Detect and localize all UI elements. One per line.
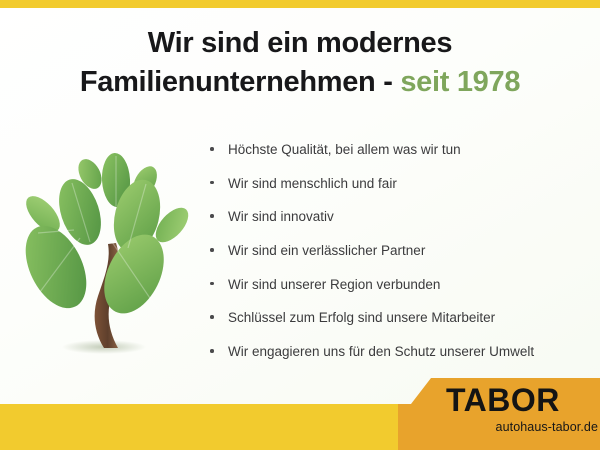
list-item-label: Schlüssel zum Erfolg sind unsere Mitarbe… xyxy=(228,310,495,325)
bullet-dot-icon xyxy=(210,349,214,353)
list-item-label: Wir sind innovativ xyxy=(228,209,334,224)
headline-line-2-main: Familienunternehmen - xyxy=(80,66,401,98)
list-item: Wir sind menschlich und fair xyxy=(208,176,598,192)
bullet-dot-icon xyxy=(210,282,214,286)
tree-illustration xyxy=(12,150,197,365)
list-item: Wir sind innovativ xyxy=(208,209,598,225)
bullet-dot-icon xyxy=(210,248,214,252)
list-item: Höchste Qualität, bei allem was wir tun xyxy=(208,142,598,158)
bullet-dot-icon xyxy=(210,315,214,319)
bullet-dot-icon xyxy=(210,147,214,151)
list-item: Schlüssel zum Erfolg sind unsere Mitarbe… xyxy=(208,310,598,326)
bullet-dot-icon xyxy=(210,214,214,218)
brand-logo-banner[interactable]: TABOR autohaus-tabor.de xyxy=(398,374,600,450)
brand-wordmark: TABOR xyxy=(446,384,598,416)
value-bullet-list: Höchste Qualität, bei allem was wir tun … xyxy=(208,142,598,378)
bullet-dot-icon xyxy=(210,181,214,185)
headline-accent-year: seit 1978 xyxy=(400,66,520,98)
list-item-label: Wir sind ein verlässlicher Partner xyxy=(228,243,425,258)
list-item-label: Wir sind menschlich und fair xyxy=(228,176,397,191)
top-accent-bar xyxy=(0,0,600,8)
list-item: Wir sind unserer Region verbunden xyxy=(208,277,598,293)
brand-tagline: autohaus-tabor.de xyxy=(446,420,598,434)
page-title: Wir sind ein modernes Familienunternehme… xyxy=(0,24,600,102)
headline-line-1: Wir sind ein modernes xyxy=(148,27,452,59)
headline-line-2: Familienunternehmen - seit 1978 xyxy=(0,63,600,102)
promo-slide: Wir sind ein modernes Familienunternehme… xyxy=(0,0,600,450)
list-item-label: Wir sind unserer Region verbunden xyxy=(228,277,440,292)
list-item-label: Höchste Qualität, bei allem was wir tun xyxy=(228,142,461,157)
list-item: Wir sind ein verlässlicher Partner xyxy=(208,243,598,259)
list-item-label: Wir engagieren uns für den Schutz unsere… xyxy=(228,344,534,359)
list-item: Wir engagieren uns für den Schutz unsere… xyxy=(208,344,598,360)
